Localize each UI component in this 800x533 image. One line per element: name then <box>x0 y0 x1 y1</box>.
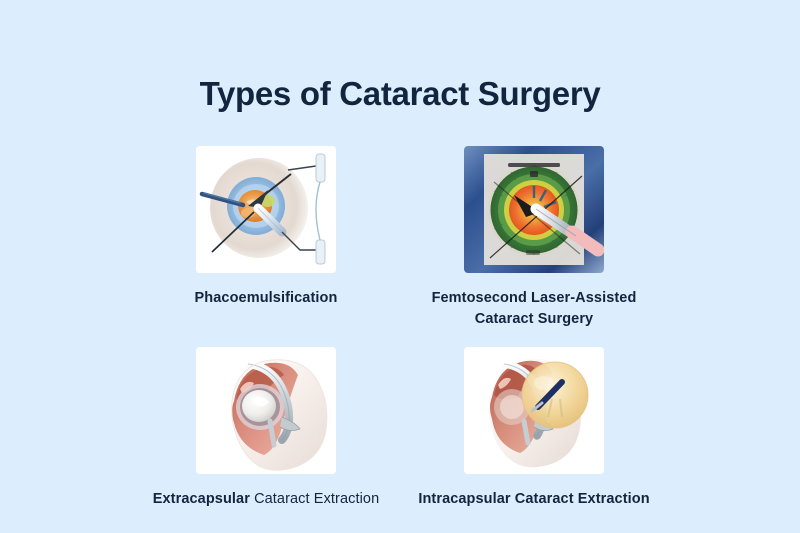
card-femtosecond-laser[interactable]: Femtosecond Laser-Assisted Cataract Surg… <box>400 146 668 330</box>
femtosecond-laser-diagram <box>464 146 604 273</box>
caption-bold-part: Extracapsular <box>153 491 250 507</box>
card-caption-phacoemulsification: Phacoemulsification <box>141 288 391 309</box>
femtosecond-laser-thumbnail[interactable] <box>464 146 604 273</box>
phacoemulsification-diagram <box>196 146 336 273</box>
card-intracapsular[interactable]: Intracapsular Cataract Extraction <box>400 347 668 510</box>
card-caption-femtosecond-laser: Femtosecond Laser-Assisted Cataract Surg… <box>409 288 659 330</box>
card-phacoemulsification[interactable]: Phacoemulsification <box>132 146 400 309</box>
card-caption-intracapsular: Intracapsular Cataract Extraction <box>409 489 659 510</box>
caption-light-part: Cataract Extraction <box>250 491 379 507</box>
cards-grid: Phacoemulsification <box>0 146 800 510</box>
card-extracapsular[interactable]: Extracapsular Cataract Extraction <box>132 347 400 510</box>
extracapsular-thumbnail[interactable] <box>196 347 336 474</box>
slide-root: Types of Cataract Surgery <box>0 0 800 533</box>
extracapsular-extraction-diagram <box>196 347 336 474</box>
cards-row-bottom: Extracapsular Cataract Extraction <box>0 347 800 510</box>
card-caption-extracapsular: Extracapsular Cataract Extraction <box>141 489 391 510</box>
cards-row-top: Phacoemulsification <box>0 146 800 330</box>
page-title: Types of Cataract Surgery <box>0 76 800 112</box>
intracapsular-extraction-diagram <box>464 347 604 474</box>
intracapsular-thumbnail[interactable] <box>464 347 604 474</box>
phacoemulsification-thumbnail[interactable] <box>196 146 336 273</box>
